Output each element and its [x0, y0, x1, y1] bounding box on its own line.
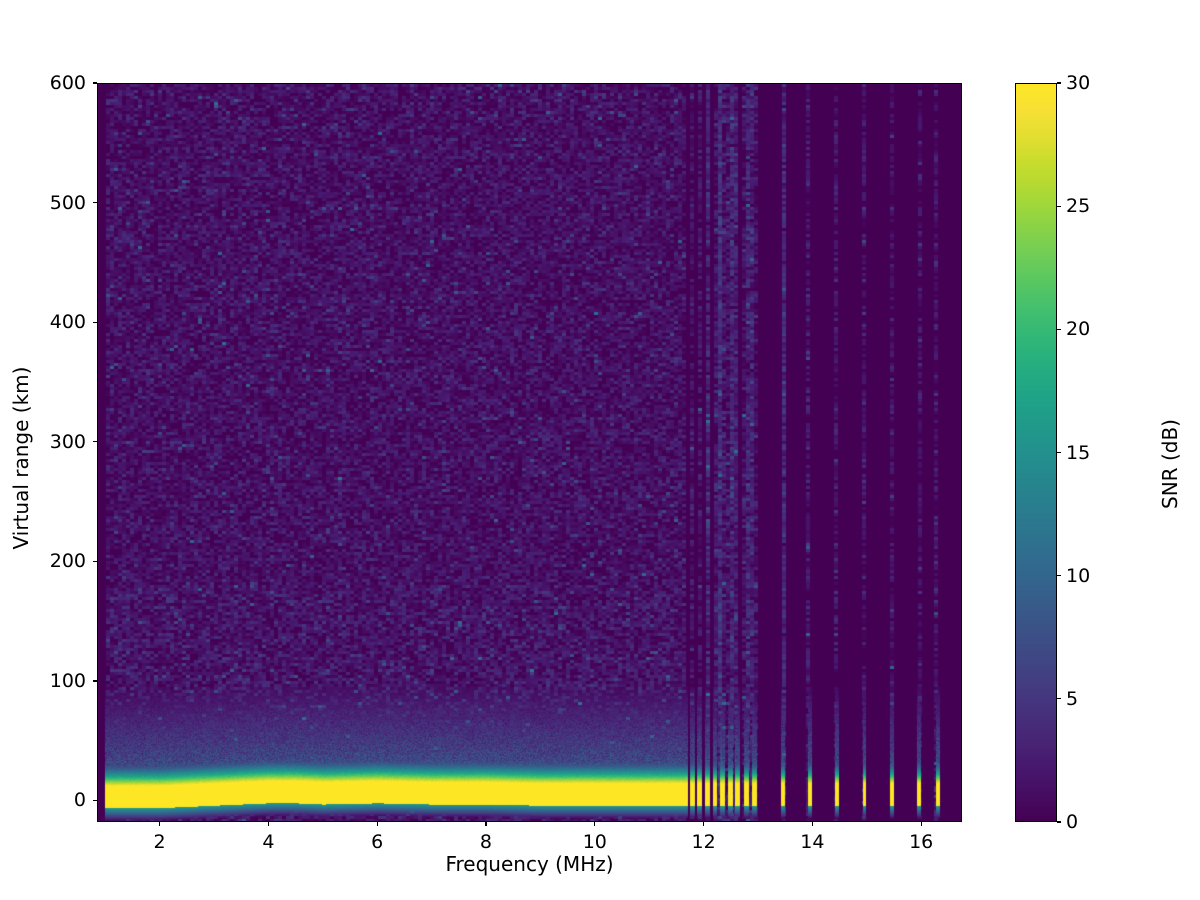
colorbar-tick-label: 0: [1066, 811, 1078, 833]
colorbar-gradient: [1016, 84, 1056, 821]
x-tick-label: 2: [154, 831, 166, 853]
x-tick-label: 6: [371, 831, 383, 853]
x-tick-mark: [703, 822, 704, 826]
colorbar-tick-label: 20: [1066, 318, 1090, 340]
y-axis-label: Virtual range (km): [9, 148, 33, 768]
colorbar-tick-mark: [1057, 452, 1061, 453]
y-tick-mark: [93, 680, 97, 681]
x-tick-mark: [921, 822, 922, 826]
colorbar-tick-mark: [1057, 206, 1061, 207]
x-axis-label: Frequency (MHz): [97, 852, 962, 876]
x-tick-mark: [812, 822, 813, 826]
x-tick-mark: [485, 822, 486, 826]
x-tick-label: 8: [480, 831, 492, 853]
x-tick-mark: [159, 822, 160, 826]
colorbar-tick-label: 30: [1066, 72, 1090, 94]
colorbar-tick-label: 10: [1066, 565, 1090, 587]
y-tick-mark: [93, 441, 97, 442]
colorbar-tick-mark: [1057, 821, 1061, 822]
x-tick-mark: [268, 822, 269, 826]
x-tick-label: 16: [909, 831, 933, 853]
y-tick-mark: [93, 202, 97, 203]
colorbar-tick-mark: [1057, 698, 1061, 699]
x-tick-label: 4: [262, 831, 274, 853]
colorbar-tick-mark: [1057, 575, 1061, 576]
x-tick-mark: [594, 822, 595, 826]
y-tick-label: 600: [2, 72, 86, 94]
x-tick-label: 10: [583, 831, 607, 853]
y-tick-mark: [93, 322, 97, 323]
colorbar-tick-label: 25: [1066, 195, 1090, 217]
y-tick-mark: [93, 561, 97, 562]
x-tick-label: 12: [691, 831, 715, 853]
y-tick-label: 0: [2, 789, 86, 811]
colorbar-tick-mark: [1057, 329, 1061, 330]
colorbar: [1015, 83, 1057, 822]
colorbar-tick-label: 5: [1066, 688, 1078, 710]
y-tick-mark: [93, 82, 97, 83]
ionogram-plot-area: [97, 83, 962, 822]
colorbar-label: SNR (dB): [1158, 314, 1182, 614]
ionogram-heatmap: [98, 84, 961, 821]
colorbar-tick-label: 15: [1066, 442, 1090, 464]
x-tick-label: 14: [800, 831, 824, 853]
colorbar-tick-mark: [1057, 82, 1061, 83]
x-tick-mark: [377, 822, 378, 826]
y-tick-mark: [93, 800, 97, 801]
